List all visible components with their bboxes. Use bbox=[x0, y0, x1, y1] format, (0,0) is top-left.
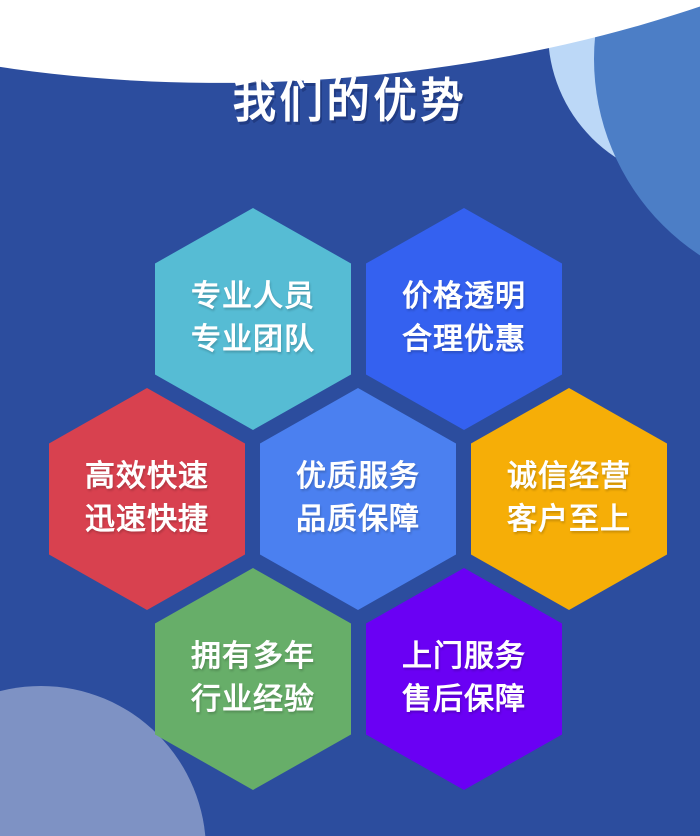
hexagon-card-integrity-business[interactable]: 诚信经营 客户至上 bbox=[471, 388, 667, 610]
hexagon-line-1: 诚信经营 bbox=[507, 456, 631, 499]
hexagon-line-2: 合理优惠 bbox=[402, 319, 526, 362]
hexagon-line-1: 优质服务 bbox=[296, 456, 420, 499]
hexagon-line-2: 售后保障 bbox=[402, 679, 526, 722]
hexagon-line-1: 价格透明 bbox=[402, 276, 526, 319]
hexagon-line-2: 行业经验 bbox=[191, 679, 315, 722]
hexagon-grid: 专业人员 专业团队 价格透明 合理优惠 高效快速 迅速快捷 优质服务 品质保障 … bbox=[0, 0, 700, 836]
hexagon-card-fast-efficient[interactable]: 高效快速 迅速快捷 bbox=[49, 388, 245, 610]
hexagon-card-quality-service[interactable]: 优质服务 品质保障 bbox=[260, 388, 456, 610]
hexagon-line-1: 上门服务 bbox=[402, 636, 526, 679]
advantages-poster: 我们的优势 专业人员 专业团队 价格透明 合理优惠 高效快速 迅速快捷 优质服务… bbox=[0, 0, 700, 836]
hexagon-line-1: 拥有多年 bbox=[191, 636, 315, 679]
hexagon-line-2: 客户至上 bbox=[507, 499, 631, 542]
hexagon-line-2: 迅速快捷 bbox=[85, 499, 209, 542]
hexagon-card-transparent-pricing[interactable]: 价格透明 合理优惠 bbox=[366, 208, 562, 430]
hexagon-line-2: 专业团队 bbox=[191, 319, 315, 362]
hexagon-line-1: 高效快速 bbox=[85, 456, 209, 499]
hexagon-card-years-experience[interactable]: 拥有多年 行业经验 bbox=[155, 568, 351, 790]
hexagon-card-onsite-service[interactable]: 上门服务 售后保障 bbox=[366, 568, 562, 790]
hexagon-line-2: 品质保障 bbox=[296, 499, 420, 542]
hexagon-card-professional-staff[interactable]: 专业人员 专业团队 bbox=[155, 208, 351, 430]
hexagon-line-1: 专业人员 bbox=[191, 276, 315, 319]
